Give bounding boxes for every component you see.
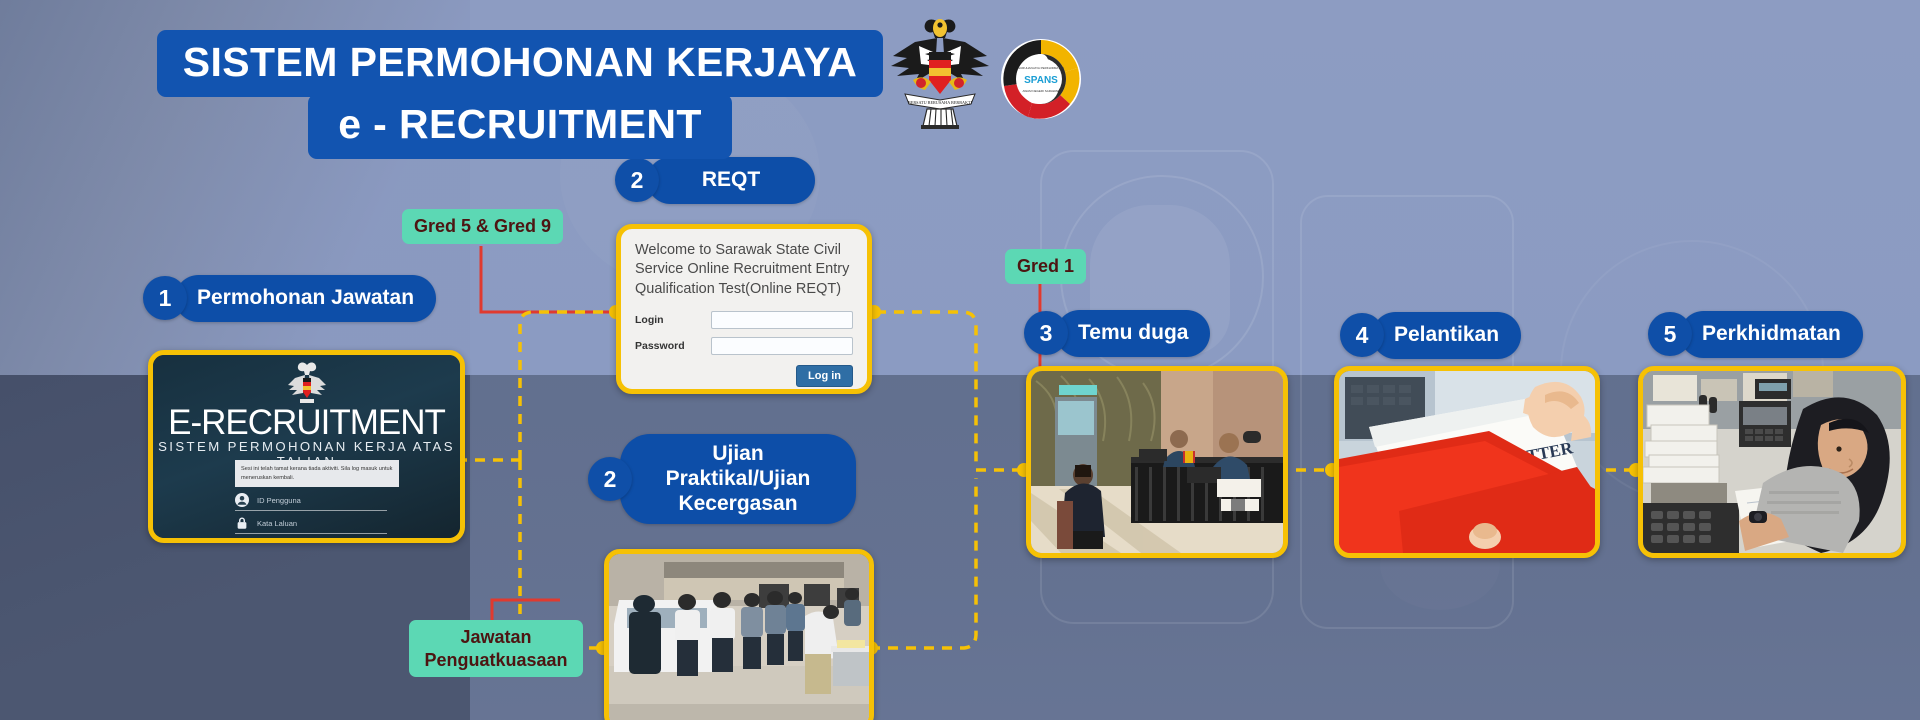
svg-text:BERSATU BERUSAHA BERBAKTI: BERSATU BERUSAHA BERBAKTI [908,100,973,105]
step-4-label: Pelantikan [1372,312,1521,359]
step-5-label: Perkhidmatan [1680,311,1863,358]
step-1-label: Permohonan Jawatan [175,275,436,322]
photo-pelantikan[interactable]: JOB OFFER LETTER WE ACCEPTED OUR OFFER O… [1334,366,1600,558]
reqt-password-row: Password [635,337,853,355]
reqt-login-label: Login [635,314,711,326]
reqt-button-row: Log in [635,365,853,387]
step-5-perkhidmatan[interactable]: 5 Perkhidmatan [1648,311,1863,358]
photo-ujian-praktikal[interactable] [604,549,874,720]
photo-pelantikan-image: JOB OFFER LETTER WE ACCEPTED OUR OFFER O… [1339,371,1595,553]
erecruitment-session-notice: Sesi ini telah tamat kerana tiada aktivi… [235,460,399,487]
svg-text:SPANS: SPANS [1024,75,1058,86]
user-icon [235,493,249,507]
step-1-permohonan-jawatan[interactable]: 1 Permohonan Jawatan [143,275,436,322]
photo-ujian-praktikal-image [609,554,869,720]
erecruitment-user-placeholder: ID Pengguna [257,496,301,505]
infographic-canvas: SISTEM PERMOHONAN KERJAYA e - RECRUITMEN… [0,0,1920,720]
step-2-reqt-label: REQT [647,157,815,204]
spans-logo-icon: SPANS SURUHANJAYA PERKHIDMATAN AWAM NEGE… [1000,38,1082,120]
erecruitment-password-field[interactable]: Kata Laluan [235,513,387,534]
erecruitment-login-button[interactable]: Log Masuk [235,538,387,543]
erecruitment-password-placeholder: Kata Laluan [257,519,297,528]
erecruitment-user-field[interactable]: ID Pengguna [235,490,387,511]
grade-tag-gred-5-9: Gred 5 & Gred 9 [402,209,563,244]
photo-erecruitment-login[interactable]: E-RECRUITMENT SISTEM PERMOHONAN KERJA AT… [148,350,465,543]
grade-tag-jawatan-penguatkuasaan: Jawatan Penguatkuasaan [409,620,583,677]
reqt-login-input[interactable] [711,311,853,329]
reqt-password-input[interactable] [711,337,853,355]
title-line-2: e - RECRUITMENT [308,94,732,159]
step-2-ujian-label: Ujian Praktikal/Ujian Kecergasan [620,434,856,524]
svg-text:SURUHANJAYA PERKHIDMATAN: SURUHANJAYA PERKHIDMATAN [1018,66,1064,70]
reqt-login-row: Login [635,311,853,329]
reqt-login-panel[interactable]: Welcome to Sarawak State Civil Service O… [616,224,872,394]
page-title: SISTEM PERMOHONAN KERJAYA e - RECRUITMEN… [160,30,880,159]
title-line-1: SISTEM PERMOHONAN KERJAYA [157,30,884,97]
erecruitment-crest-icon [287,359,327,405]
photo-temu-duga-image [1031,371,1283,553]
photo-perkhidmatan-image [1643,371,1901,553]
step-2-ujian-number: 2 [588,457,632,501]
photo-perkhidmatan[interactable] [1638,366,1906,558]
erecruitment-screen: E-RECRUITMENT SISTEM PERMOHONAN KERJA AT… [153,355,460,538]
step-2-reqt[interactable]: 2 REQT [615,157,815,204]
reqt-password-label: Password [635,340,711,352]
reqt-welcome-text: Welcome to Sarawak State Civil Service O… [635,241,853,299]
svg-text:AWAM NEGERI SARAWAK: AWAM NEGERI SARAWAK [1022,89,1059,93]
step-2-ujian-praktikal[interactable]: 2 Ujian Praktikal/Ujian Kecergasan [588,434,856,524]
lock-icon [235,516,249,530]
photo-temu-duga[interactable] [1026,366,1288,558]
step-3-label: Temu duga [1056,310,1210,357]
grade-tag-gred-1: Gred 1 [1005,249,1086,284]
step-3-temu-duga[interactable]: 3 Temu duga [1024,310,1210,357]
reqt-login-button[interactable]: Log in [796,365,853,387]
step-4-pelantikan[interactable]: 4 Pelantikan [1340,312,1521,359]
erecruitment-title: E-RECRUITMENT [153,403,460,443]
sarawak-coat-of-arms-icon: BERSATU BERUSAHA BERBAKTI [885,8,995,133]
